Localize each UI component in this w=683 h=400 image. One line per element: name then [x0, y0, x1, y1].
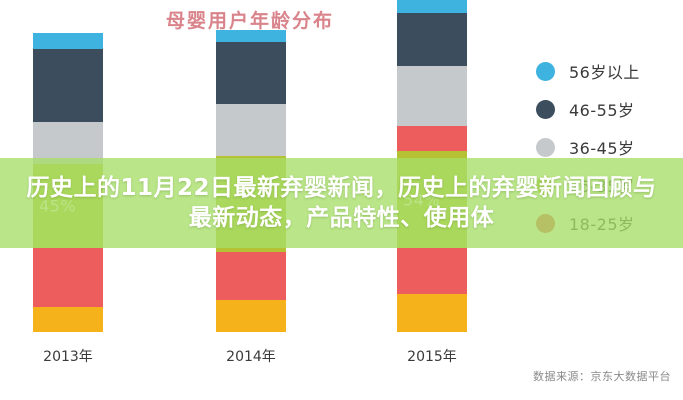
bar-segment — [397, 126, 467, 151]
bar-segment — [33, 248, 103, 307]
bar-segment — [33, 49, 103, 122]
legend-item: 56岁以上 — [536, 52, 683, 90]
bar-segment — [216, 30, 286, 42]
data-source-note: 数据来源：京东大数据平台 — [533, 368, 671, 384]
bar-segment — [397, 13, 467, 66]
legend-item-label: 56岁以上 — [569, 59, 640, 83]
bar-x-axis-label: 2015年 — [407, 346, 457, 366]
bar-segment — [33, 307, 103, 332]
legend-item-label: 46-55岁 — [569, 97, 635, 121]
bar-x-axis-label: 2013年 — [43, 346, 93, 366]
bar-segment — [216, 104, 286, 156]
bar-segment — [216, 300, 286, 332]
legend-color-swatch-icon — [536, 62, 555, 81]
legend-item-label: 36-45岁 — [569, 135, 635, 159]
bar-segment — [397, 0, 467, 13]
legend-color-swatch-icon — [536, 138, 555, 157]
bar-segment — [397, 294, 467, 332]
legend-item: 46-55岁 — [536, 90, 683, 128]
screenshot-root: 母婴用户年龄分布 45%2013年2014年54%2015年 56岁以上46-5… — [0, 0, 683, 400]
bar-segment — [397, 66, 467, 126]
bar-segment — [216, 42, 286, 104]
bar-segment — [216, 252, 286, 300]
legend-color-swatch-icon — [536, 100, 555, 119]
bar-x-axis-label: 2014年 — [226, 346, 276, 366]
caption-overlay-band: 历史上的11月22日最新弃婴新闻，历史上的弃婴新闻回顾与最新动态，产品特性、使用… — [0, 158, 683, 248]
bar-segment — [397, 248, 467, 294]
caption-overlay-text: 历史上的11月22日最新弃婴新闻，历史上的弃婴新闻回顾与最新动态，产品特性、使用… — [16, 173, 667, 234]
bar-segment — [33, 33, 103, 49]
